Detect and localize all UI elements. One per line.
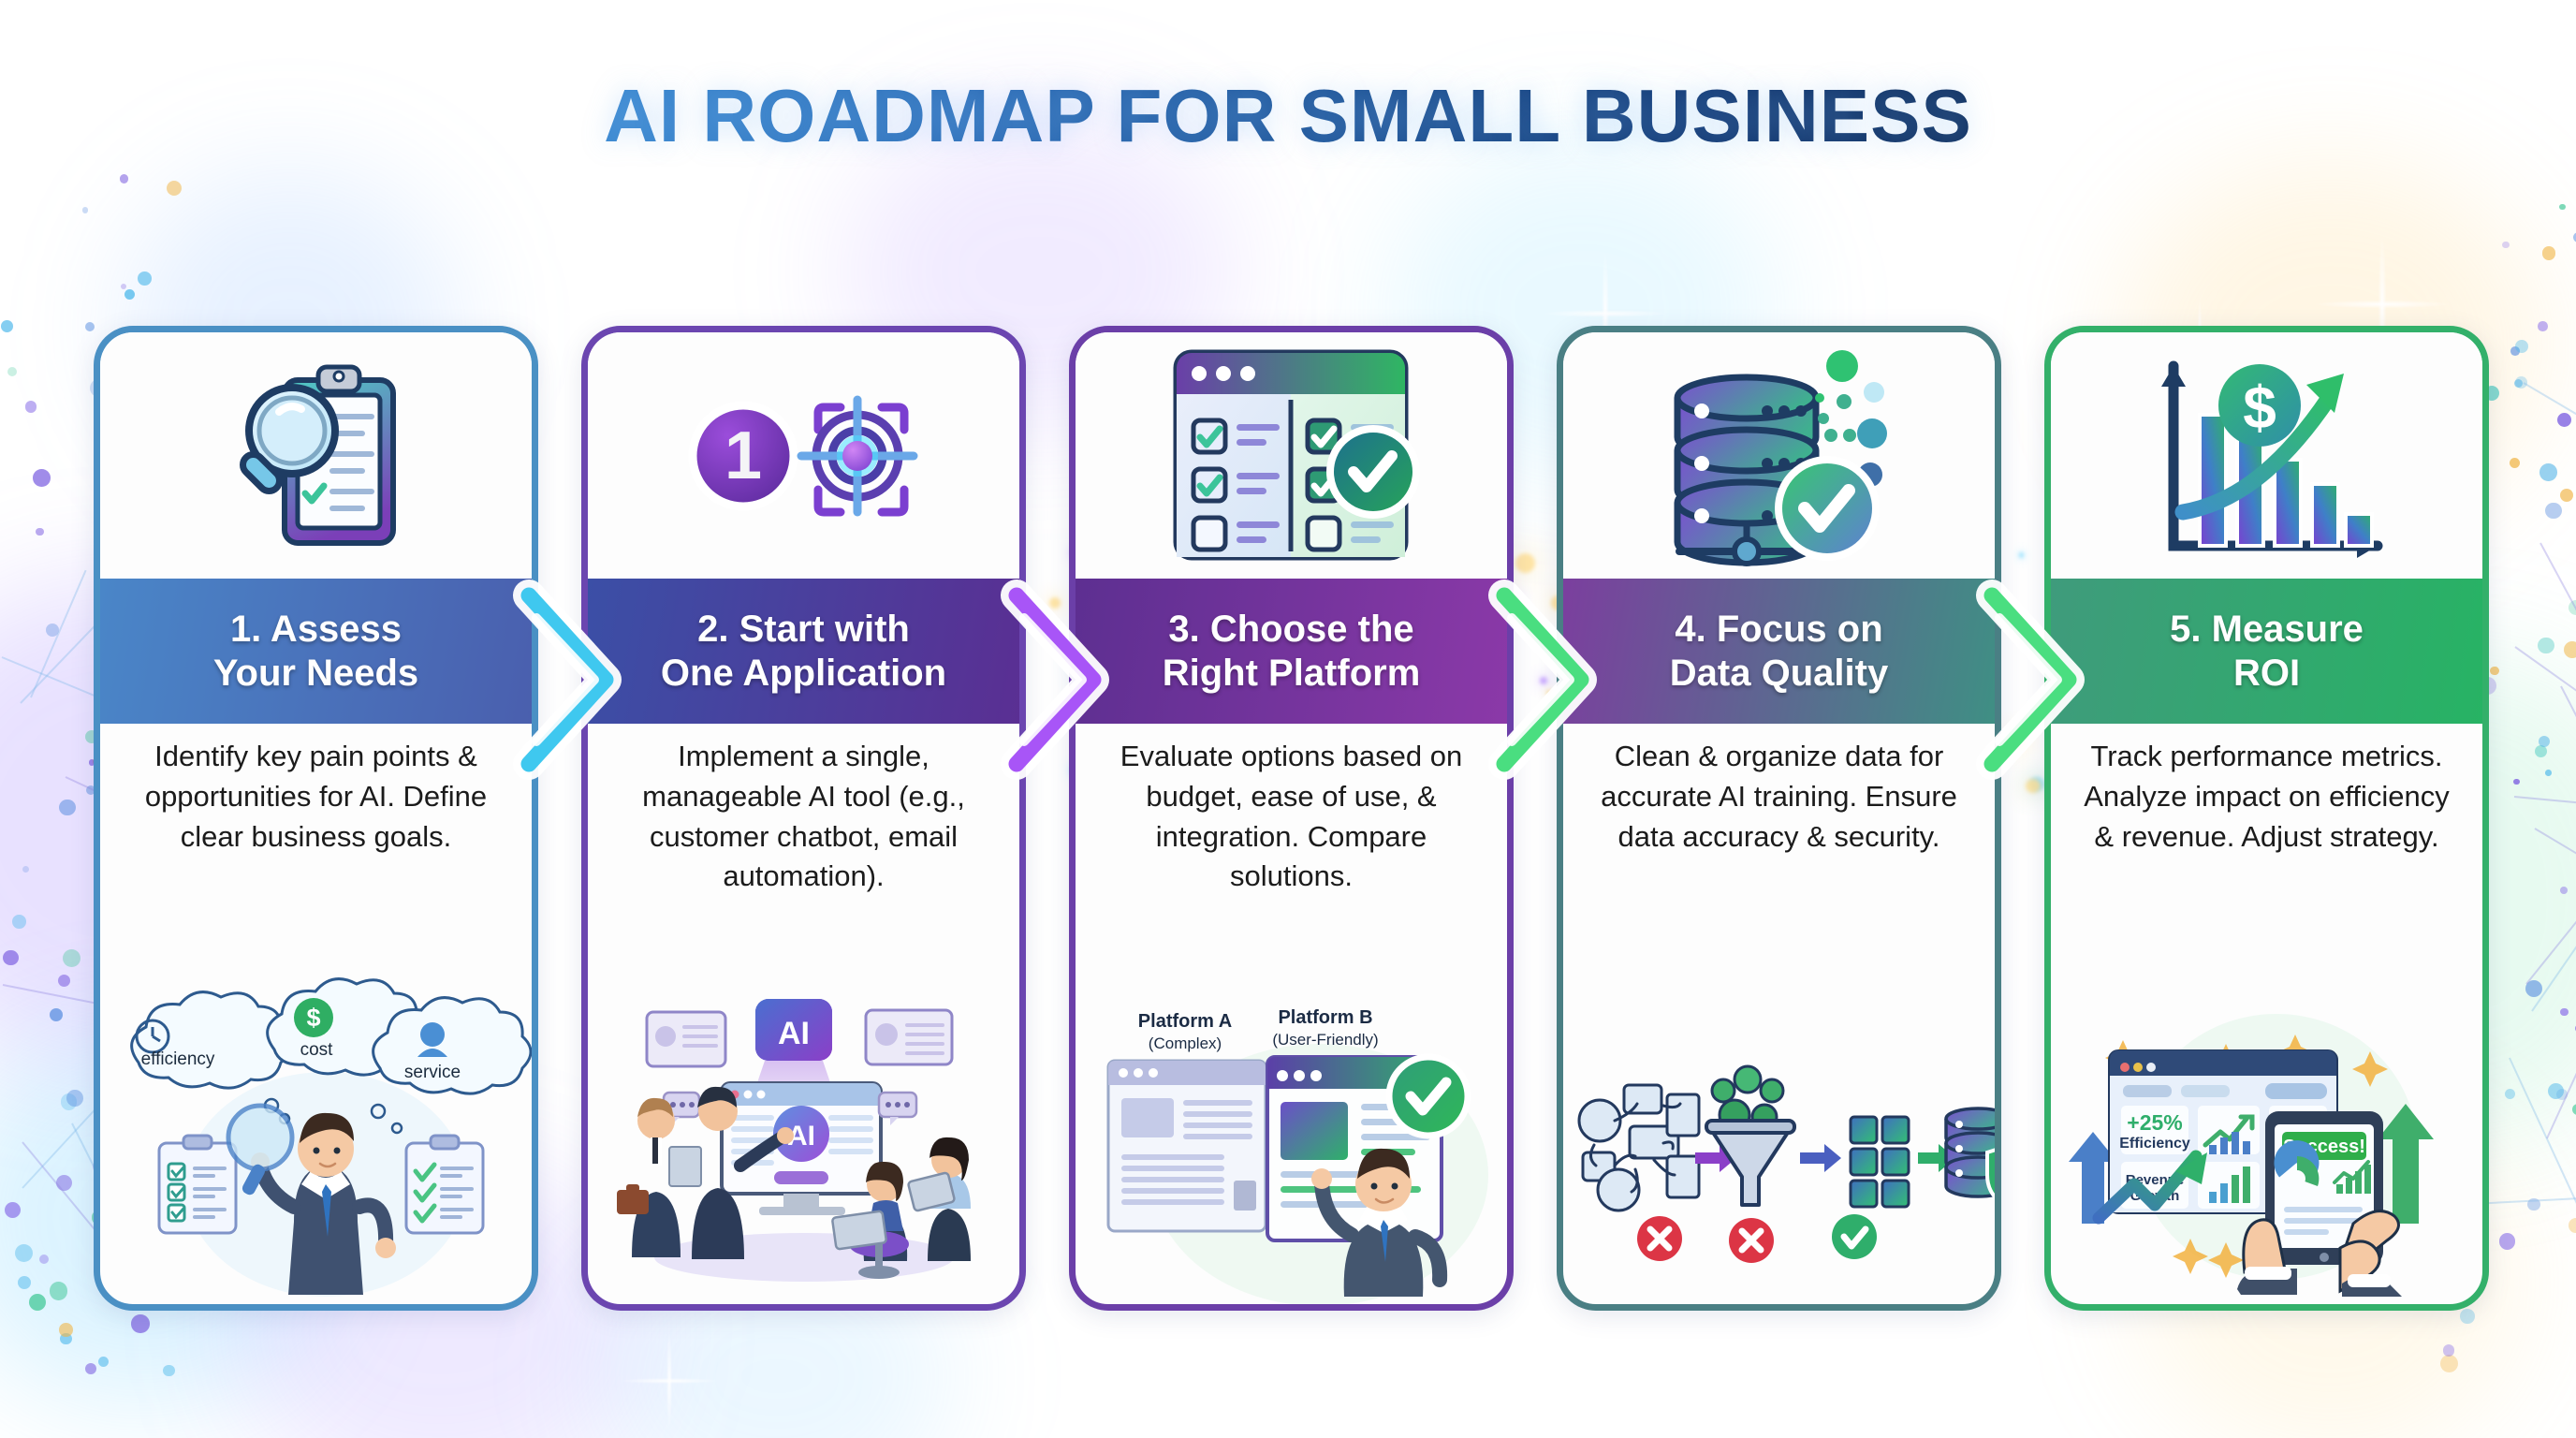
card-illustration bbox=[1563, 997, 1995, 1297]
background-dot bbox=[33, 469, 51, 487]
background-dot bbox=[2539, 463, 2557, 481]
number-one-target-icon: 1 bbox=[687, 362, 921, 550]
background-dot bbox=[2557, 413, 2571, 427]
card-heading-line2: One Application bbox=[640, 652, 967, 696]
background-dot bbox=[2569, 1218, 2576, 1233]
chevron-1-to-2 bbox=[516, 586, 626, 773]
svg-text:Platform B: Platform B bbox=[1278, 1007, 1372, 1028]
svg-text:efficiency: efficiency bbox=[140, 1049, 214, 1069]
background-dot bbox=[25, 401, 37, 412]
card-heading-line2: Your Needs bbox=[193, 652, 439, 696]
svg-text:1: 1 bbox=[724, 418, 761, 493]
card-icon-zone: 1 bbox=[588, 332, 1019, 579]
card-heading-line1: 4. Focus on bbox=[1654, 608, 1903, 652]
card-heading-line1: 3. Choose the bbox=[1148, 608, 1434, 652]
database-check-icon bbox=[1657, 344, 1902, 568]
background-dot bbox=[50, 1282, 67, 1299]
card-icon-zone bbox=[1076, 332, 1507, 579]
svg-text:AI: AI bbox=[778, 1016, 810, 1051]
chevron-3-to-4 bbox=[1491, 586, 1602, 773]
svg-text:+25%: +25% bbox=[2127, 1110, 2182, 1135]
card-heading-band: 5. Measure ROI bbox=[2051, 579, 2482, 724]
card-heading-line2: Right Platform bbox=[1142, 652, 1442, 696]
background-dot bbox=[22, 866, 29, 873]
magnifier-clipboard-icon bbox=[223, 358, 410, 554]
roadmap-card-assess-your-needs[interactable]: 1. Assess Your Needs Identify key pain p… bbox=[94, 326, 538, 1311]
page-title-wrap: AI ROADMAP FOR SMALL BUSINESS bbox=[0, 73, 2576, 159]
chevron-2-to-3 bbox=[1003, 586, 1114, 773]
illustration-data-cleaning-pipeline bbox=[1573, 1063, 1985, 1297]
svg-text:cost: cost bbox=[300, 1040, 333, 1060]
background-dot bbox=[59, 800, 76, 816]
background-dot bbox=[58, 975, 70, 987]
background-dot bbox=[2564, 641, 2576, 658]
svg-text:service: service bbox=[403, 1063, 460, 1082]
card-heading-line1: 5. Measure bbox=[2149, 608, 2384, 652]
background-dot bbox=[2499, 1233, 2516, 1250]
card-heading-line2: ROI bbox=[2213, 652, 2320, 696]
background-dot bbox=[2440, 1355, 2458, 1372]
card-heading-line1: 1. Assess bbox=[210, 608, 422, 652]
background-dot bbox=[66, 1090, 83, 1107]
card-icon-zone bbox=[1563, 332, 1995, 579]
background-dot bbox=[120, 174, 128, 183]
card-icon-zone: $ bbox=[2051, 332, 2482, 579]
background-dot bbox=[2545, 503, 2561, 519]
page-title: AI ROADMAP FOR SMALL BUSINESS bbox=[604, 73, 1972, 159]
illustration-team-around-ai-monitor: AI AI bbox=[598, 1006, 1010, 1297]
svg-text:Efficiency: Efficiency bbox=[2119, 1136, 2190, 1152]
card-body-text: Identify key pain points & opportunities… bbox=[100, 737, 532, 857]
chevron-4-to-5 bbox=[1979, 586, 2089, 773]
svg-text:(Complex): (Complex) bbox=[1148, 1034, 1221, 1052]
background-dot bbox=[121, 284, 126, 289]
illustration-platform-comparison: Platform A (Complex) Platform B (User-Fr… bbox=[1086, 1006, 1498, 1297]
background-dot bbox=[3, 950, 19, 966]
roadmap-card-focus-on-data-quality[interactable]: 4. Focus on Data Quality Clean & organiz… bbox=[1557, 326, 2001, 1311]
card-body-text: Evaluate options based on budget, ease o… bbox=[1076, 737, 1507, 897]
illustration-businessman-assessing-needs: efficiency $ cost service bbox=[110, 1006, 522, 1297]
card-body-text: Implement a single, manageable AI tool (… bbox=[588, 737, 1019, 897]
card-heading-band: 1. Assess Your Needs bbox=[100, 579, 532, 724]
growth-chart-dollar-icon: $ bbox=[2145, 351, 2389, 561]
background-dot bbox=[2559, 204, 2566, 211]
background-dot bbox=[163, 1365, 174, 1376]
background-dot bbox=[167, 181, 182, 196]
card-illustration: AI AI bbox=[588, 997, 1019, 1297]
card-heading-band: 4. Focus on Data Quality bbox=[1563, 579, 1995, 724]
background-dot bbox=[2443, 1344, 2454, 1356]
background-dot bbox=[2572, 1104, 2576, 1115]
background-dot bbox=[82, 207, 88, 213]
illustration-roi-dashboard-tablet: +25% Efficiency Revenue Growth Success! bbox=[2061, 1006, 2473, 1297]
sparkle-icon bbox=[599, 1311, 739, 1438]
svg-text:$: $ bbox=[2243, 374, 2276, 441]
svg-text:(User-Friendly): (User-Friendly) bbox=[1272, 1031, 1378, 1049]
background-dot bbox=[2538, 638, 2554, 654]
background-dot bbox=[39, 1255, 49, 1264]
background-dot bbox=[131, 1314, 150, 1333]
background-dot bbox=[124, 289, 135, 300]
card-body-text: Track performance metrics. Analyze impac… bbox=[2051, 737, 2482, 857]
background-dot bbox=[2502, 242, 2510, 249]
background-dot bbox=[59, 1323, 73, 1337]
card-heading-line2: Data Quality bbox=[1649, 652, 1909, 696]
background-dot bbox=[85, 1363, 96, 1374]
background-dot bbox=[12, 915, 26, 929]
background-dot bbox=[36, 528, 43, 536]
background-dot bbox=[18, 1276, 31, 1289]
card-heading-band: 2. Start with One Application bbox=[588, 579, 1019, 724]
background-dot bbox=[2538, 321, 2548, 331]
background-dot bbox=[2548, 1083, 2564, 1099]
card-icon-zone bbox=[100, 332, 532, 579]
background-dot bbox=[2560, 1008, 2568, 1016]
background-dot bbox=[2542, 246, 2556, 260]
card-illustration: efficiency $ cost service bbox=[100, 997, 532, 1297]
card-heading-band: 3. Choose the Right Platform bbox=[1076, 579, 1507, 724]
card-body-text: Clean & organize data for accurate AI tr… bbox=[1563, 737, 1995, 857]
background-dot bbox=[7, 367, 17, 376]
comparison-window-checklist-icon bbox=[1171, 347, 1412, 565]
roadmap-card-row: 1. Assess Your Needs Identify key pain p… bbox=[94, 326, 2490, 1311]
background-dot bbox=[2560, 887, 2568, 894]
card-illustration: +25% Efficiency Revenue Growth Success! bbox=[2051, 997, 2482, 1297]
background-dot bbox=[50, 1008, 63, 1021]
background-dot bbox=[2560, 489, 2573, 502]
svg-text:$: $ bbox=[306, 1004, 320, 1032]
card-illustration: Platform A (Complex) Platform B (User-Fr… bbox=[1076, 997, 1507, 1297]
roadmap-card-choose-the-right-platform[interactable]: 3. Choose the Right Platform Evaluate op… bbox=[1069, 326, 1514, 1311]
background-dot bbox=[2510, 458, 2520, 468]
card-heading-line1: 2. Start with bbox=[677, 608, 930, 652]
roadmap-card-start-with-one-application[interactable]: 1 2. Start with One Application Implemen… bbox=[581, 326, 1026, 1311]
roadmap-card-measure-roi[interactable]: $ 5. Measure ROI Track performance metri… bbox=[2044, 326, 2489, 1311]
background-dot bbox=[2545, 770, 2552, 776]
svg-text:Platform A: Platform A bbox=[1137, 1011, 1231, 1032]
background-dot bbox=[2513, 779, 2520, 785]
background-dot bbox=[1, 320, 13, 332]
